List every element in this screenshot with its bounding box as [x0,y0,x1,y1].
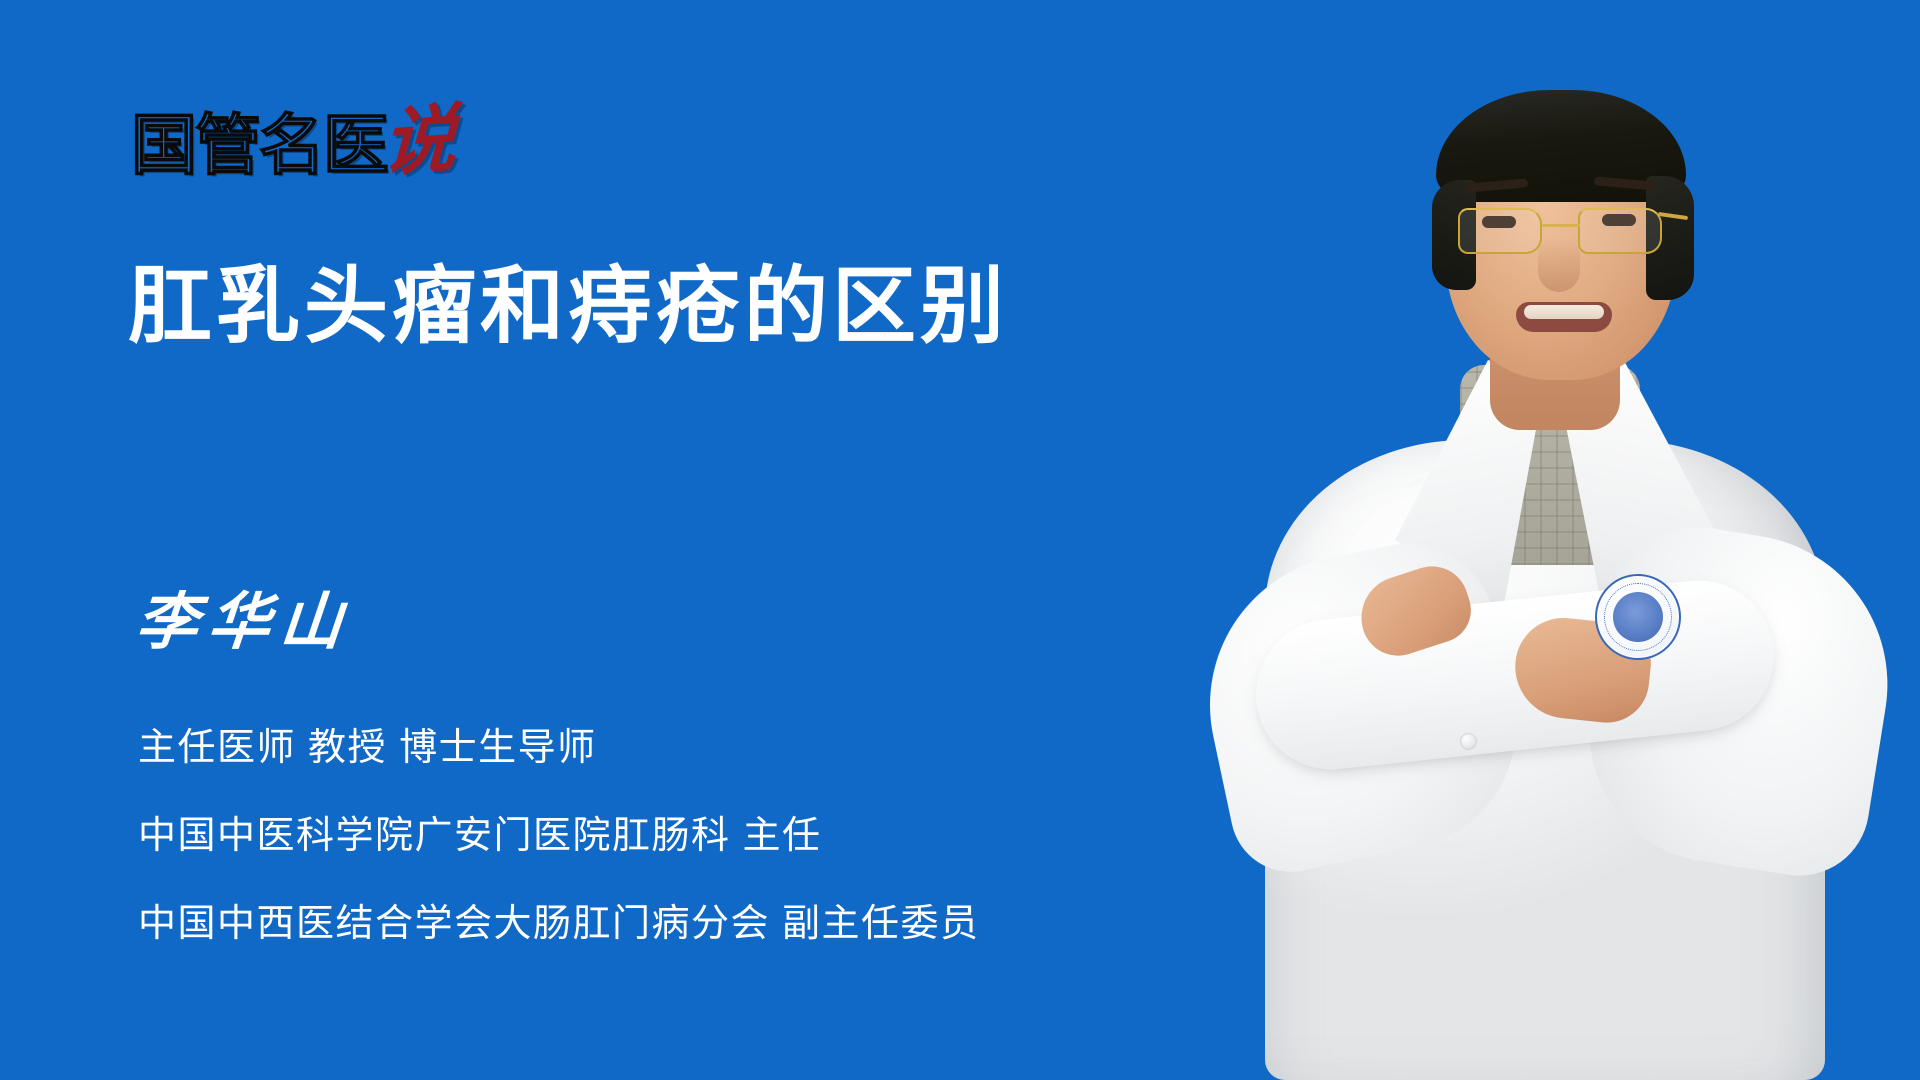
coat-button [1460,733,1477,750]
glasses-lens-left [1458,208,1542,254]
glasses-lens-right [1578,208,1662,254]
badge-inner [1613,592,1663,642]
brand-logo-main-text: 国管名医 [131,112,387,178]
doctor-portrait [1160,50,1920,1080]
brand-logo-accent-text: 说 [381,107,457,178]
coat-badge-icon [1595,574,1681,660]
page-title: 肛乳头瘤和痔疮的区别 [128,258,1008,354]
speaker-credentials: 主任医师 教授 博士生导师 中国中医科学院广安门医院肛肠科 主任 中国中西医结合… [138,726,980,946]
credential-line: 中国中西医结合学会大肠肛门病分会 副主任委员 [138,902,980,946]
nose [1538,238,1580,292]
credential-line: 主任医师 教授 博士生导师 [138,726,980,770]
brand-logo: 国管名医 说 [131,96,455,178]
slide-canvas: 国管名医 说 肛乳头瘤和痔疮的区别 李华山 主任医师 教授 博士生导师 中国中医… [0,0,1920,1080]
speaker-name: 李华山 [133,588,355,658]
glasses-bridge [1542,224,1580,227]
teeth [1524,305,1604,319]
credential-line: 中国中医科学院广安门医院肛肠科 主任 [138,814,980,858]
mouth [1516,302,1612,332]
